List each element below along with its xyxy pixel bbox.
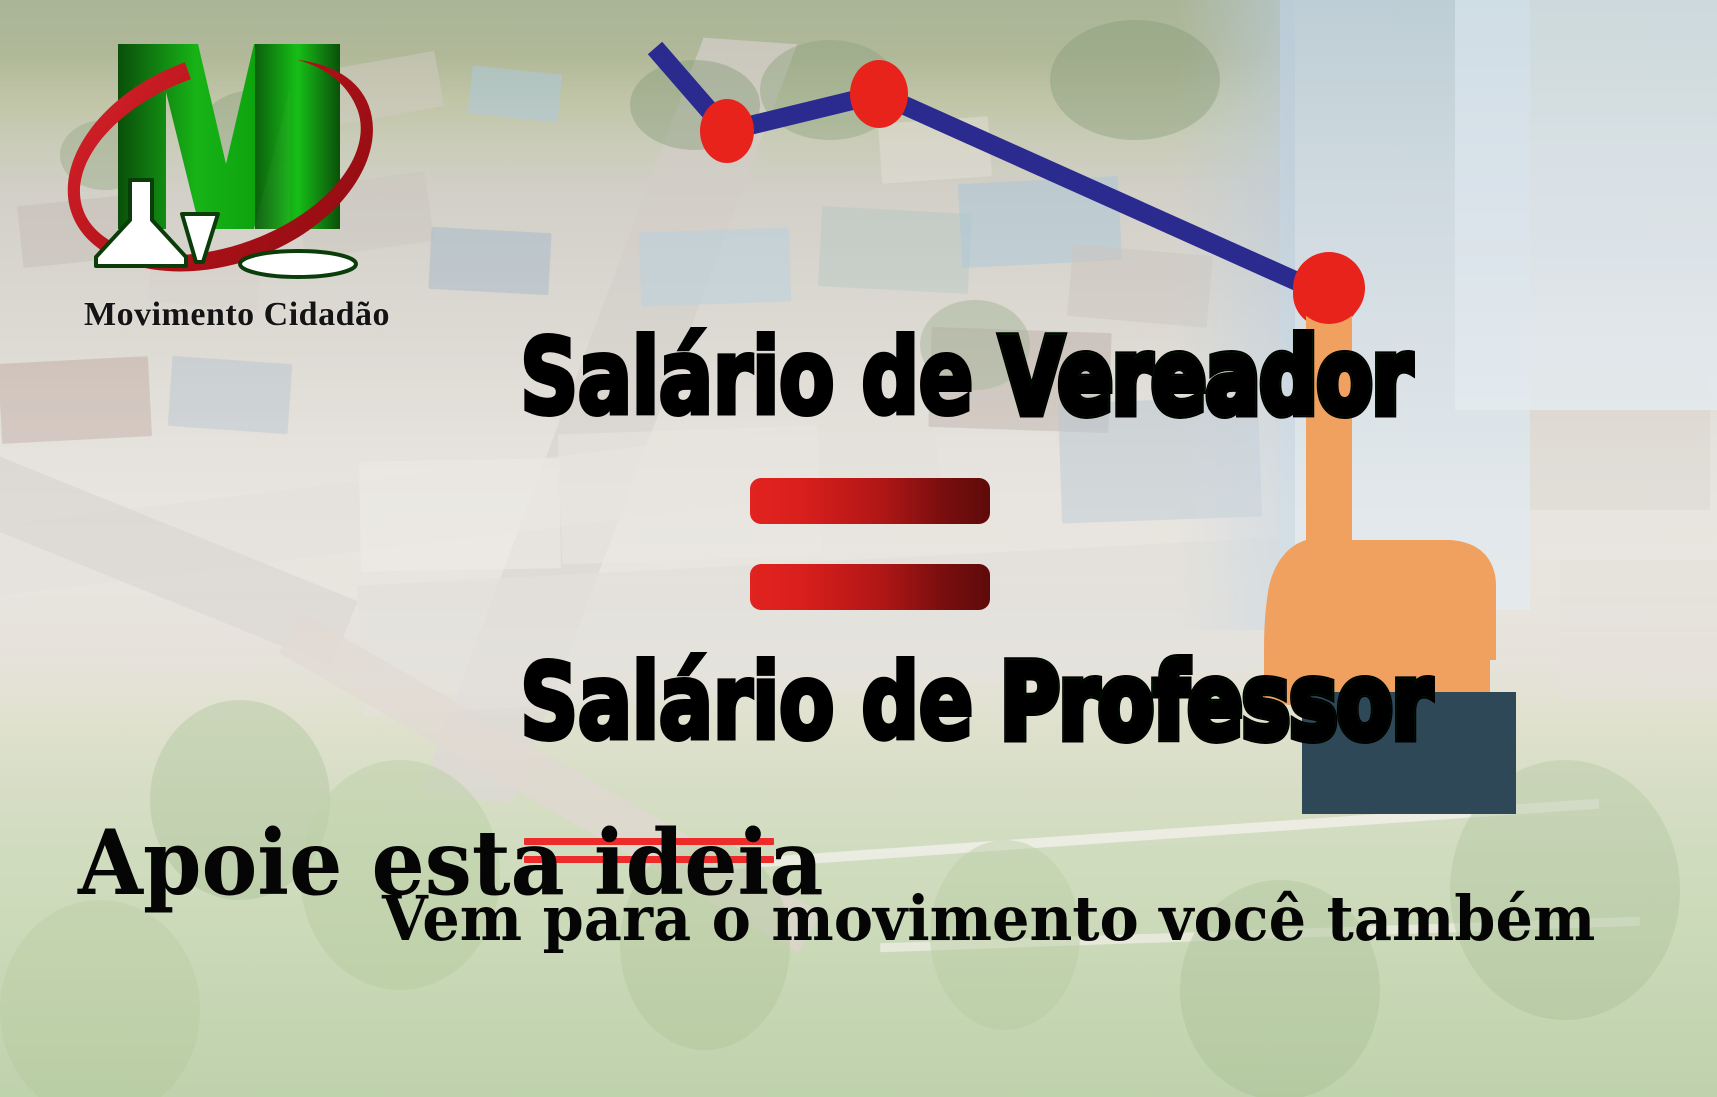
headline-line-1-highlight-wrap: VereadorVereador: [1000, 325, 1411, 429]
slogan-secondary: Vem para o movimento você também: [382, 888, 1595, 950]
chart-marker: [850, 60, 908, 128]
equals-bar-top: [750, 478, 990, 524]
headline-line-1: Salário de VereadorVereador: [520, 325, 1411, 429]
headline-line-1-prefix: Salário de: [520, 316, 1000, 438]
headline-line-2: Salário de ProfessorProfessor: [520, 650, 1431, 754]
hand-knuckle: [1446, 540, 1496, 660]
chart-marker: [700, 99, 754, 163]
headline-line-2-highlight: Professor: [1000, 641, 1431, 763]
equals-bar-bottom: [750, 564, 990, 610]
equals-sign: [750, 478, 990, 610]
fingertip-dot-icon: [1293, 252, 1365, 324]
headline-line-2-highlight-wrap: ProfessorProfessor: [1000, 650, 1431, 754]
poster-canvas: Movimento Cidadão Salário de VereadorVer…: [0, 0, 1717, 1097]
headline-line-1-highlight: Vereador: [1000, 316, 1411, 438]
headline-line-2-prefix: Salário de: [520, 641, 1000, 763]
chart-line: [655, 48, 1325, 294]
